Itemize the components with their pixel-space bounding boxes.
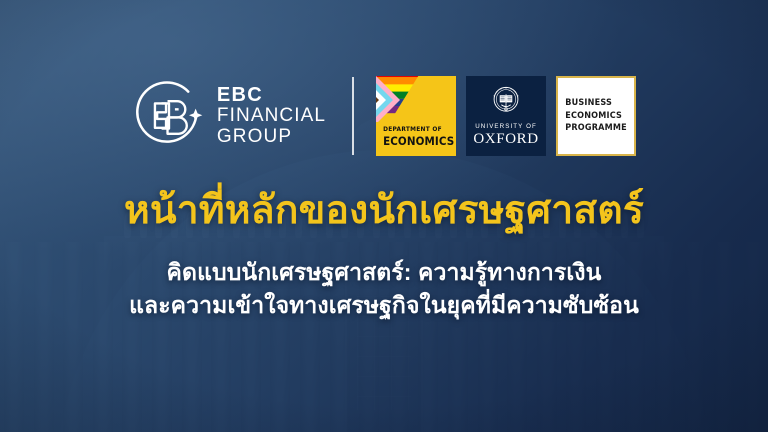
oxford-line1: UNIVERSITY OF [475,123,537,130]
ebc-monogram-icon [132,79,206,153]
logo-row: EBC FINANCIAL GROUP [132,70,636,162]
oxford-line2: OXFORD [473,131,538,148]
bep-line3: PROGRAMME [565,122,627,134]
ebc-wordmark-line3: GROUP [217,126,292,147]
banner-subtitle-line1: คิดแบบนักเศรษฐศาสตร์: ความรู้ทางการเงิน [129,256,639,289]
promo-banner: EBC FINANCIAL GROUP [0,0,768,432]
partner-logo-university-of-oxford: UNIVERSITY OF OXFORD [466,76,546,156]
vertical-divider [352,77,354,155]
bep-line1: BUSINESS [565,97,627,109]
banner-headline: หน้าที่หลักของนักเศรษฐศาสตร์ [124,188,644,234]
partner-logo-department-of-economics: DEPARTMENT OF ECONOMICS [376,76,456,156]
dept-econ-line1: DEPARTMENT OF [383,125,454,133]
dept-econ-line2: ECONOMICS [383,134,454,148]
ebc-wordmark-line2: FINANCIAL [217,105,326,126]
ebc-wordmark-line1: EBC [217,84,263,106]
banner-subtitle-line2: และความเข้าใจทางเศรษฐกิจในยุคที่มีความซั… [129,289,639,322]
partner-logos: DEPARTMENT OF ECONOMICS [376,76,636,156]
ebc-logo-lockup: EBC FINANCIAL GROUP [132,79,326,153]
partner-label-department-of-economics: DEPARTMENT OF ECONOMICS [383,125,454,148]
banner-subtitle: คิดแบบนักเศรษฐศาสตร์: ความรู้ทางการเงิน … [129,256,639,321]
bep-label: BUSINESS ECONOMICS PROGRAMME [565,97,627,134]
bep-line2: ECONOMICS [565,110,627,122]
ebc-wordmark: EBC FINANCIAL GROUP [217,85,326,148]
progress-pride-chevron-icon [376,76,434,122]
oxford-crest-icon [489,84,523,118]
partner-logo-business-economics-programme: BUSINESS ECONOMICS PROGRAMME [556,76,636,156]
banner-content: EBC FINANCIAL GROUP [0,0,768,432]
